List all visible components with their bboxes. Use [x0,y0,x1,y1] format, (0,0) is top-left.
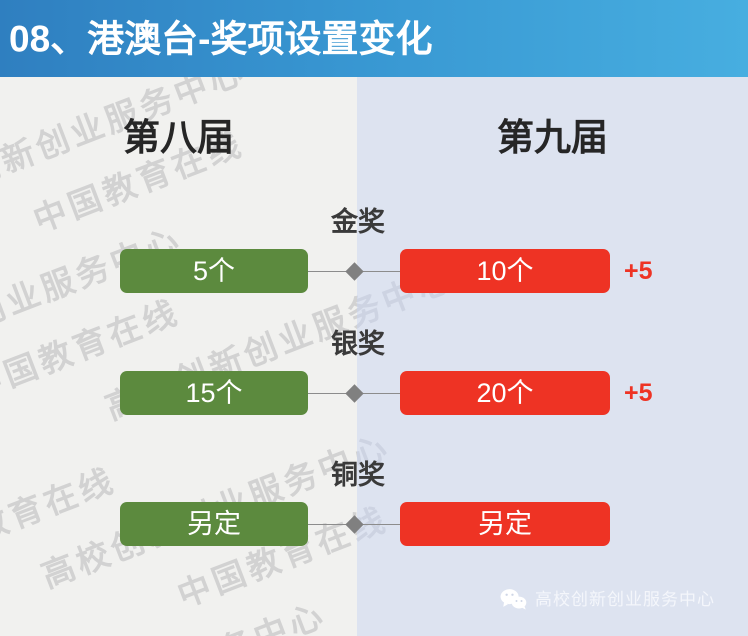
watermark-line: 高校创新创业服务中心 [0,114,357,510]
award-row-label: 金奖 [277,209,439,236]
watermark-line: 高校创新创业服务中心 [357,114,748,510]
slide-canvas: 08、港澳台-奖项设置变化 中国教育在线 高校创新创业服务中心 中国教育在线 高… [0,0,748,636]
previous-value-text: 15个 [120,371,308,415]
previous-value-text: 5个 [120,249,308,293]
diamond-marker-icon [345,515,363,533]
previous-value-bar: 另定 [120,502,308,546]
wechat-icon [500,588,527,610]
row-connector [308,502,400,546]
column-heading-left: 第八届 [0,119,357,156]
previous-value-text: 另定 [120,502,308,546]
footer-brand: 高校创新创业服务中心 [500,586,715,612]
award-row-label: 银奖 [277,331,439,358]
current-value-bar: 另定 [400,502,610,546]
award-row-bronze: 铜奖 另定 另定 [0,462,748,562]
diamond-marker-icon [345,262,363,280]
previous-value-bar: 15个 [120,371,308,415]
current-value-bar: 20个 [400,371,610,415]
award-row-silver: 银奖 15个 20个 +5 [0,331,748,431]
previous-value-bar: 5个 [120,249,308,293]
current-value-text: 另定 [400,502,610,546]
row-connector [308,371,400,415]
comparison-body: 中国教育在线 高校创新创业服务中心 中国教育在线 高校创新创业服务中心 中国教育… [0,77,748,636]
column-heading-right: 第九届 [357,119,748,156]
current-value-text: 10个 [400,249,610,293]
page-title: 08、港澳台-奖项设置变化 [9,20,432,57]
row-connector [308,249,400,293]
delta-badge: +5 [624,371,653,415]
current-value-bar: 10个 [400,249,610,293]
diamond-marker-icon [345,384,363,402]
delta-badge: +5 [624,249,653,293]
award-row-label: 铜奖 [277,462,439,489]
footer-brand-text: 高校创新创业服务中心 [535,591,715,608]
current-value-text: 20个 [400,371,610,415]
award-row-gold: 金奖 5个 10个 +5 [0,209,748,309]
slide-header: 08、港澳台-奖项设置变化 [0,0,748,77]
